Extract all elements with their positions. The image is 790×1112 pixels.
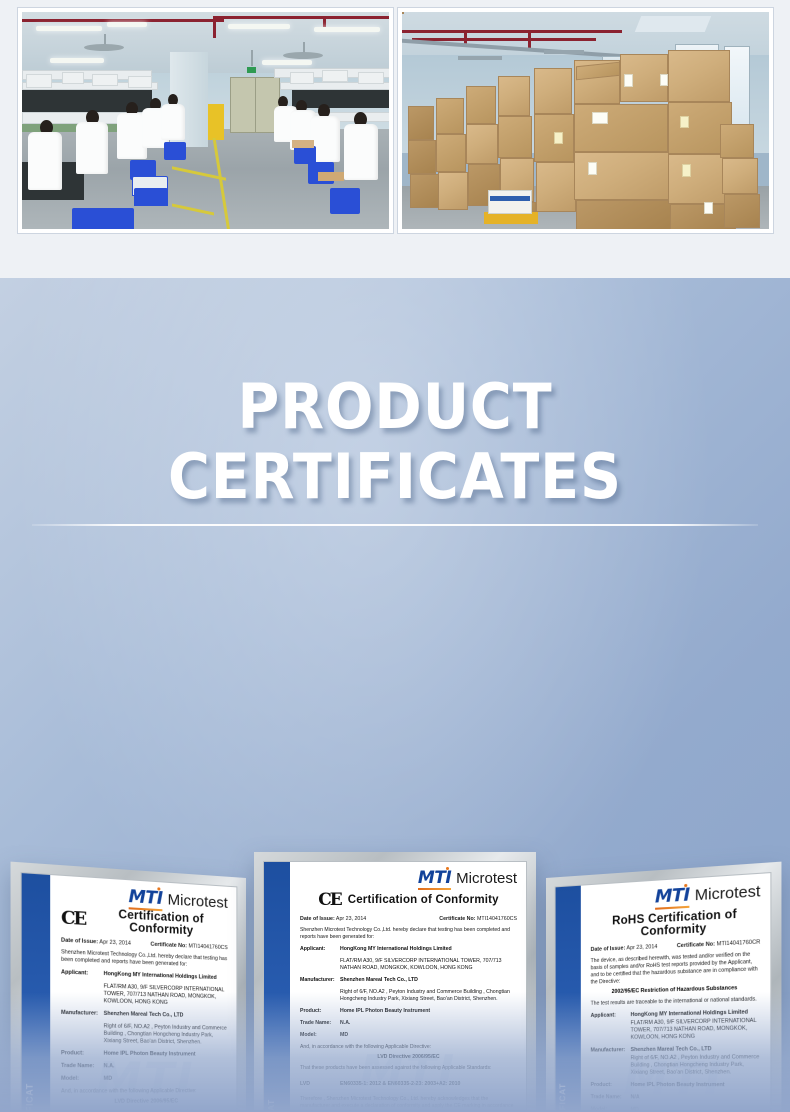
manufacturer-address: Right of 6/F, NO.A2 , Peyton Industry an… [340,989,517,1003]
certno-value: MTI14041760CS [477,916,517,922]
product-value: Home IPL Photon Beauty Instrument [104,1051,228,1059]
manufacturer-value: Shenzhen Mareal Tech Co., LTD [631,1045,761,1054]
applicant-address: FLAT/RM A30, 9/F SILVERCORP INTERNATIONA… [104,983,228,1008]
model-label: Model: [591,1106,631,1112]
applicant-label: Applicant: [300,946,340,953]
mti-logo-mark: MTI [418,870,451,887]
certificate-gallery: CERTIFICATE • 认证证书 • ZERTIFIKAT • СЕРТИФ… [0,578,790,1112]
mti-logo-mark: MTI [128,889,162,909]
date-label: Date of Issue: [61,937,98,945]
certno-label: Certificate No: [677,941,715,949]
tradename-value: N.A. [104,1063,228,1071]
title-divider [32,524,758,526]
directive-intro: And, in accordance with the following Ap… [61,1088,228,1096]
tradename-value: N.A. [340,1020,517,1027]
product-label: Product: [300,1008,340,1015]
date-value: Apr 23, 2014 [626,944,657,952]
title-line-certificates: CERTIFICATES [32,442,759,512]
closing-paragraph: Therefore , Shenzhen Microtest Technolog… [300,1096,517,1112]
manufacturer-value: Shenzhen Mareal Tech Co., LTD [340,977,517,984]
traceable-note: The test results are traceable to the in… [591,996,761,1008]
applicant-label: Applicant: [61,969,104,978]
applicant-label: Applicant: [591,1012,631,1020]
directive-intro: And, in accordance with the following Ap… [300,1044,517,1051]
certificate-intro: Shenzhen Microtest Technology Co.,Ltd. h… [61,949,228,970]
photo-strip [0,0,790,278]
mti-microtest-logo: MTI Microtest [300,870,517,887]
certificate-language-band: CERTIFICATE • 认证证书 • ZERTIFIKAT • СЕРТИФ… [556,886,581,1112]
standard-value: EN60335-1: 2012 & EN60335-2-23: 2003+A2:… [340,1081,517,1088]
date-label: Date of Issue: [591,945,626,953]
tradename-label: Trade Name: [300,1020,340,1027]
tradename-label: Trade Name: [61,1063,104,1071]
certificate-band-text: CERTIFICATE • 认证证书 • ZERTIFIKAT • СЕРТИФ… [265,1099,277,1112]
product-value: Home IPL Photon Beauty Instrument [340,1008,517,1015]
certificate-band-text: CERTIFICATE • 认证证书 • ZERTIFIKAT • СЕРТИФ… [23,1083,36,1112]
title-line-product: PRODUCT [32,372,759,442]
ce-mark-icon: CE [61,908,85,930]
model-value: MD [340,1032,517,1039]
mti-microtest-logo: MTI Microtest [591,882,761,910]
model-value: MD [631,1107,761,1112]
certno-value: MTI14041760CS [188,943,227,951]
applicant-address: FLAT/RM A30, 9/F SILVERCORP INTERNATIONA… [340,958,517,972]
product-label: Product: [591,1082,631,1089]
manufacturer-label: Manufacturer: [591,1047,631,1055]
page-title: PRODUCT CERTIFICATES [0,372,790,512]
certificate-language-band: CERTIFICATE • 认证证书 • ZERTIFIKAT • СЕРТИФ… [22,873,51,1112]
certificate-ce-center[interactable]: CERTIFICATE • 认证证书 • ZERTIFIKAT • СЕРТИФ… [254,852,536,1112]
product-certificates-panel: PRODUCT CERTIFICATES CERTIFICATE • 认证证书 … [0,278,790,1112]
microtest-wordmark: Microtest [168,891,228,912]
certificate-title: Certification of Conformity [93,907,228,939]
manufacturer-address: Right of 6/F, NO.A2 , Peyton Industry an… [104,1023,228,1047]
warehouse-storage-photo [398,8,773,233]
certno-value: MTI14041760CR [717,939,761,947]
certificate-intro: Shenzhen Microtest Technology Co.,Ltd. h… [300,927,517,941]
product-label: Product: [61,1050,104,1058]
model-value: MD [104,1076,228,1083]
manufacturer-value: Shenzhen Mareal Tech Co., LTD [104,1011,228,1021]
certificate-title: Certification of Conformity [348,894,499,906]
tradename-value: N/A [631,1094,761,1102]
certno-label: Certificate No: [439,916,475,922]
standard-label: LVD [300,1081,340,1088]
factory-production-line-photo [18,8,393,233]
microtest-wordmark: Microtest [695,882,761,904]
certificate-intro: The device, as described herewith, was t… [591,951,761,987]
directive-value: LVD Directive 2006/95/EC [300,1054,517,1060]
date-value: Apr 23, 2014 [99,939,131,947]
directive-value: 2002/95/EC Restriction of Hazardous Subs… [591,984,761,995]
certificate-rohs-right[interactable]: CERTIFICATE • 认证证书 • ZERTIFIKAT • СЕРТИФ… [546,862,781,1112]
model-label: Model: [300,1032,340,1039]
date-label: Date of Issue: [300,916,335,922]
certno-label: Certificate No: [150,942,186,950]
date-value: Apr 23, 2014 [336,916,366,922]
ce-mark-icon: CE [318,890,341,910]
certificate-ce-left[interactable]: CERTIFICATE • 认证证书 • ZERTIFIKAT • СЕРТИФ… [11,862,246,1112]
product-value: Home IPL Photon Beauty Instrument [631,1082,761,1090]
model-label: Model: [61,1076,104,1083]
certificate-band-text: CERTIFICATE • 认证证书 • ZERTIFIKAT • СЕРТИФ… [557,1083,569,1112]
certificate-title: RoHS Certification of Conformity [591,907,761,941]
mti-logo-mark: MTI [655,887,690,907]
applicant-value: HongKong MY International Holdings Limit… [340,946,517,953]
certificate-language-band: CERTIFICATE • 认证证书 • ZERTIFIKAT • СЕРТИФ… [264,862,290,1112]
directive-value: LVD Directive 2006/95/EC [61,1098,228,1105]
applicant-value: HongKong MY International Holdings Limit… [104,971,228,983]
standard-intro: That these products have been assessed a… [300,1065,517,1072]
microtest-wordmark: Microtest [456,870,517,887]
applicant-address: FLAT/RM A30, 9/F SILVERCORP INTERNATIONA… [631,1018,761,1042]
manufacturer-label: Manufacturer: [300,977,340,984]
tradename-label: Trade Name: [591,1094,631,1101]
manufacturer-label: Manufacturer: [61,1010,104,1018]
manufacturer-address: Right of 6/F, NO.A2 , Peyton Industry an… [631,1054,761,1077]
